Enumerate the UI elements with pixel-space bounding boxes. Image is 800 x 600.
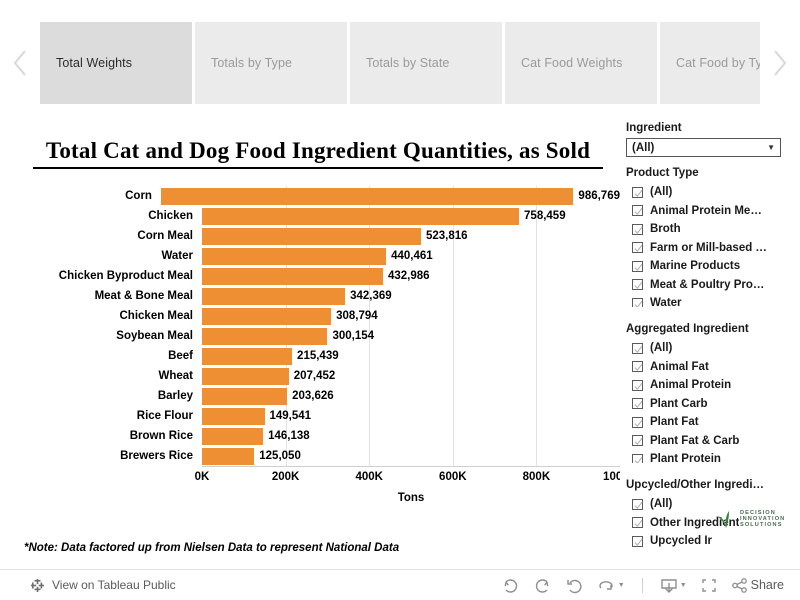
aggregated-ingredient-checkbox-list[interactable]: (All)Animal FatAnimal ProteinPlant CarbP… xyxy=(626,339,800,463)
bar-value-label: 203,626 xyxy=(292,390,334,402)
checkbox-label: (All) xyxy=(650,186,672,198)
checkbox-icon[interactable] xyxy=(632,417,643,428)
bar[interactable] xyxy=(161,188,573,205)
filter-aggregated-ingredient: Aggregated Ingredient (All)Animal FatAni… xyxy=(626,323,800,469)
bar-category-label: Brown Rice xyxy=(0,430,202,442)
bar-category-label: Corn Meal xyxy=(0,230,202,242)
bar-row[interactable]: Chicken Meal308,794 xyxy=(0,306,620,326)
checkbox-row[interactable]: Plant Carb xyxy=(626,395,800,414)
checkbox-label: Animal Fat xyxy=(650,361,709,373)
bar-category-label: Rice Flour xyxy=(0,410,202,422)
checkbox-row[interactable]: Marine Products xyxy=(626,257,800,276)
redo-icon[interactable] xyxy=(533,577,552,594)
x-axis-tick-label: 800K xyxy=(523,471,551,483)
bar-zone: 300,154 xyxy=(202,326,620,346)
bar-row[interactable]: Corn Meal523,816 xyxy=(0,226,620,246)
checkbox-icon[interactable] xyxy=(632,435,643,446)
bar-row[interactable]: Chicken Byproduct Meal432,986 xyxy=(0,266,620,286)
filter-title: Product Type xyxy=(626,167,800,179)
filter-ingredient: Ingredient (All) ▼ xyxy=(626,122,800,157)
bar-zone: 342,369 xyxy=(202,286,620,306)
bar-zone: 149,541 xyxy=(202,406,620,426)
bar[interactable] xyxy=(202,228,421,245)
tab-next-arrow-icon[interactable] xyxy=(760,22,800,104)
x-axis-tick-label: 600K xyxy=(439,471,467,483)
share-label: Share xyxy=(751,578,784,592)
bottom-toolbar: View on Tableau Public ▼ ▼ Share xyxy=(0,569,800,600)
checkbox-icon[interactable] xyxy=(632,205,643,216)
bar-zone: 523,816 xyxy=(202,226,620,246)
ingredient-dropdown[interactable]: (All) ▼ xyxy=(626,138,781,157)
checkbox-icon[interactable] xyxy=(632,517,643,528)
bar[interactable] xyxy=(202,368,289,385)
bar-zone: 203,626 xyxy=(202,386,620,406)
checkbox-icon[interactable] xyxy=(632,499,643,510)
logo-line-3: SOLUTIONS xyxy=(740,523,785,529)
undo-icon[interactable] xyxy=(501,577,520,594)
filter-panel: Ingredient (All) ▼ Product Type (All)Ani… xyxy=(620,104,800,569)
bar-row[interactable]: Rice Flour149,541 xyxy=(0,406,620,426)
bar-row[interactable]: Soybean Meal300,154 xyxy=(0,326,620,346)
checkbox-label: (All) xyxy=(650,498,672,510)
tab-label: Total Weights xyxy=(56,56,132,70)
ingredient-selected-value: (All) xyxy=(632,142,654,154)
bar-category-label: Water xyxy=(0,250,202,262)
bar-row[interactable]: Chicken758,459 xyxy=(0,206,620,226)
bar[interactable] xyxy=(202,248,386,265)
view-on-tableau-public-link[interactable]: View on Tableau Public xyxy=(30,578,176,593)
checkbox-label: Animal Protein xyxy=(650,379,731,391)
checkbox-icon[interactable] xyxy=(632,224,643,235)
checkbox-row[interactable]: (All) xyxy=(626,183,800,202)
tab-cat-food-weights[interactable]: Cat Food Weights xyxy=(505,22,657,104)
filter-title: Upcycled/Other Ingredi… xyxy=(626,479,800,491)
chart-title: Total Cat and Dog Food Ingredient Quanti… xyxy=(33,138,603,169)
product-type-checkbox-list[interactable]: (All)Animal Protein Me…BrothFarm or Mill… xyxy=(626,183,800,307)
tab-label: Cat Food Weights xyxy=(521,56,622,70)
checkbox-row[interactable]: Plant Fat & Carb xyxy=(626,432,800,451)
checkbox-icon[interactable] xyxy=(632,343,643,354)
checkbox-row[interactable]: Upcycled Ir xyxy=(626,532,800,551)
bar-zone: 215,439 xyxy=(202,346,620,366)
bar-zone: 758,459 xyxy=(202,206,620,226)
checkbox-icon[interactable] xyxy=(632,380,643,391)
bar-chart: Corn986,769Chicken758,459Corn Meal523,81… xyxy=(0,186,620,514)
tab-label: Totals by State xyxy=(366,56,450,70)
share-button[interactable]: Share xyxy=(731,577,784,594)
bar-value-label: 149,541 xyxy=(270,410,312,422)
bar[interactable] xyxy=(202,208,519,225)
bar-row[interactable]: Meat & Bone Meal342,369 xyxy=(0,286,620,306)
checkbox-row[interactable]: Animal Fat xyxy=(626,358,800,377)
chevron-down-icon: ▼ xyxy=(680,582,687,589)
checkbox-label: (All) xyxy=(650,342,672,354)
tab-prev-arrow-icon[interactable] xyxy=(0,22,40,104)
checkbox-label: Animal Protein Me… xyxy=(650,205,762,217)
bar-category-label: Wheat xyxy=(0,370,202,382)
fullscreen-icon[interactable] xyxy=(700,577,718,594)
toolbar-divider xyxy=(642,578,643,593)
bar-value-label: 440,461 xyxy=(391,250,433,262)
tab-totals-by-type[interactable]: Totals by Type xyxy=(195,22,347,104)
bar-category-label: Chicken Byproduct Meal xyxy=(0,270,202,282)
checkbox-row[interactable]: Animal Protein Me… xyxy=(626,202,800,221)
x-axis-tick-label: 400K xyxy=(355,471,383,483)
checkbox-row[interactable]: Farm or Mill-based … xyxy=(626,239,800,258)
x-axis-tick-label: 0K xyxy=(195,471,210,483)
bar-category-label: Barley xyxy=(0,390,202,402)
checkbox-label: Plant Protein xyxy=(650,453,721,463)
checkbox-label: Marine Products xyxy=(650,260,740,272)
checkbox-label: Water xyxy=(650,297,682,307)
bar-category-label: Beef xyxy=(0,350,202,362)
tab-total-weights[interactable]: Total Weights xyxy=(40,22,192,104)
bar[interactable] xyxy=(202,328,327,345)
tab-label: Totals by Type xyxy=(211,56,292,70)
bar[interactable] xyxy=(202,268,383,285)
checkbox-label: Farm or Mill-based … xyxy=(650,242,767,254)
bar-category-label: Meat & Bone Meal xyxy=(0,290,202,302)
checkbox-row[interactable]: Plant Fat xyxy=(626,413,800,432)
bar-row[interactable]: Wheat207,452 xyxy=(0,366,620,386)
checkbox-row[interactable]: Water xyxy=(626,294,800,307)
bar[interactable] xyxy=(202,388,287,405)
checkbox-row[interactable]: Plant Protein xyxy=(626,450,800,463)
chart-footnote: *Note: Data factored up from Nielsen Dat… xyxy=(24,542,624,554)
checkbox-label: Meat & Poultry Pro… xyxy=(650,279,764,291)
x-axis-title: Tons xyxy=(202,492,620,504)
checkbox-icon[interactable] xyxy=(632,454,643,463)
tab-cat-food-by-type[interactable]: Cat Food by Type xyxy=(660,22,760,104)
filter-title: Aggregated Ingredient xyxy=(626,323,800,335)
bar-category-label: Chicken Meal xyxy=(0,310,202,322)
bar-value-label: 146,138 xyxy=(268,430,310,442)
bar[interactable] xyxy=(202,288,345,305)
checkbox-icon[interactable] xyxy=(632,398,643,409)
checkbox-row[interactable]: (All) xyxy=(626,339,800,358)
bar-row[interactable]: Brown Rice146,138 xyxy=(0,426,620,446)
chevron-down-icon: ▼ xyxy=(767,144,775,152)
checkbox-icon[interactable] xyxy=(632,261,643,272)
bar[interactable] xyxy=(202,348,292,365)
bar-value-label: 308,794 xyxy=(336,310,378,322)
filter-product-type: Product Type (All)Animal Protein Me…Brot… xyxy=(626,167,800,313)
bar-rows: Corn986,769Chicken758,459Corn Meal523,81… xyxy=(0,186,620,466)
checkbox-label: Upcycled Ir xyxy=(650,535,712,547)
bar[interactable] xyxy=(202,408,265,425)
bar-value-label: 342,369 xyxy=(350,290,392,302)
bar-value-label: 125,050 xyxy=(259,450,301,462)
bar[interactable] xyxy=(202,428,263,445)
bar-value-label: 300,154 xyxy=(332,330,374,342)
bar-zone: 432,986 xyxy=(202,266,620,286)
chevron-down-icon: ▼ xyxy=(618,582,625,589)
bar-zone: 146,138 xyxy=(202,426,620,446)
x-axis-tick-label: 200K xyxy=(272,471,300,483)
bar-zone: 125,050 xyxy=(202,446,620,466)
bar-value-label: 215,439 xyxy=(297,350,339,362)
checkbox-label: Plant Fat xyxy=(650,416,699,428)
bar-value-label: 432,986 xyxy=(388,270,430,282)
checkbox-icon[interactable] xyxy=(632,361,643,372)
bar-row[interactable]: Corn986,769 xyxy=(0,186,620,206)
tab-totals-by-state[interactable]: Totals by State xyxy=(350,22,502,104)
bar-category-label: Corn xyxy=(0,190,161,202)
checkbox-row[interactable]: Meat & Poultry Pro… xyxy=(626,276,800,295)
tabs-container: Total Weights Totals by Type Totals by S… xyxy=(40,22,760,104)
tab-strip: Total Weights Totals by Type Totals by S… xyxy=(0,22,800,104)
bar-value-label: 758,459 xyxy=(524,210,566,222)
bar-category-label: Brewers Rice xyxy=(0,450,202,462)
checkbox-icon[interactable] xyxy=(632,298,643,307)
tab-label: Cat Food by Type xyxy=(676,56,760,70)
download-icon[interactable]: ▼ xyxy=(660,577,687,594)
bar-value-label: 986,769 xyxy=(578,190,620,202)
filter-title: Ingredient xyxy=(626,122,800,134)
checkbox-icon[interactable] xyxy=(632,536,643,547)
x-axis: 0K200K400K600K800K1000K xyxy=(202,466,620,486)
checkbox-icon[interactable] xyxy=(632,187,643,198)
checkbox-row[interactable]: Animal Protein xyxy=(626,376,800,395)
refresh-icon[interactable]: ▼ xyxy=(597,577,625,594)
tableau-link-label: View on Tableau Public xyxy=(52,578,176,592)
bar-category-label: Soybean Meal xyxy=(0,330,202,342)
bar-zone: 308,794 xyxy=(202,306,620,326)
checkbox-icon[interactable] xyxy=(632,279,643,290)
bar-zone: 986,769 xyxy=(161,186,620,206)
bar-category-label: Chicken xyxy=(0,210,202,222)
revert-icon[interactable] xyxy=(565,577,584,594)
decision-innovation-solutions-logo: DECISION INNOVATION SOLUTIONS xyxy=(715,510,785,530)
bar[interactable] xyxy=(202,308,331,325)
checkbox-row[interactable]: Broth xyxy=(626,220,800,239)
bar-value-label: 523,816 xyxy=(426,230,468,242)
checkbox-label: Plant Fat & Carb xyxy=(650,435,739,447)
checkbox-label: Plant Carb xyxy=(650,398,708,410)
bar[interactable] xyxy=(202,448,254,465)
leaf-icon xyxy=(715,510,737,530)
tableau-logo-icon xyxy=(30,578,45,593)
checkbox-icon[interactable] xyxy=(632,242,643,253)
bar-row[interactable]: Water440,461 xyxy=(0,246,620,266)
toolbar-actions: ▼ ▼ Share xyxy=(501,577,784,594)
bar-zone: 207,452 xyxy=(202,366,620,386)
checkbox-label: Broth xyxy=(650,223,681,235)
bar-value-label: 207,452 xyxy=(294,370,336,382)
bar-zone: 440,461 xyxy=(202,246,620,266)
bar-row[interactable]: Barley203,626 xyxy=(0,386,620,406)
bar-row[interactable]: Brewers Rice125,050 xyxy=(0,446,620,466)
bar-row[interactable]: Beef215,439 xyxy=(0,346,620,366)
